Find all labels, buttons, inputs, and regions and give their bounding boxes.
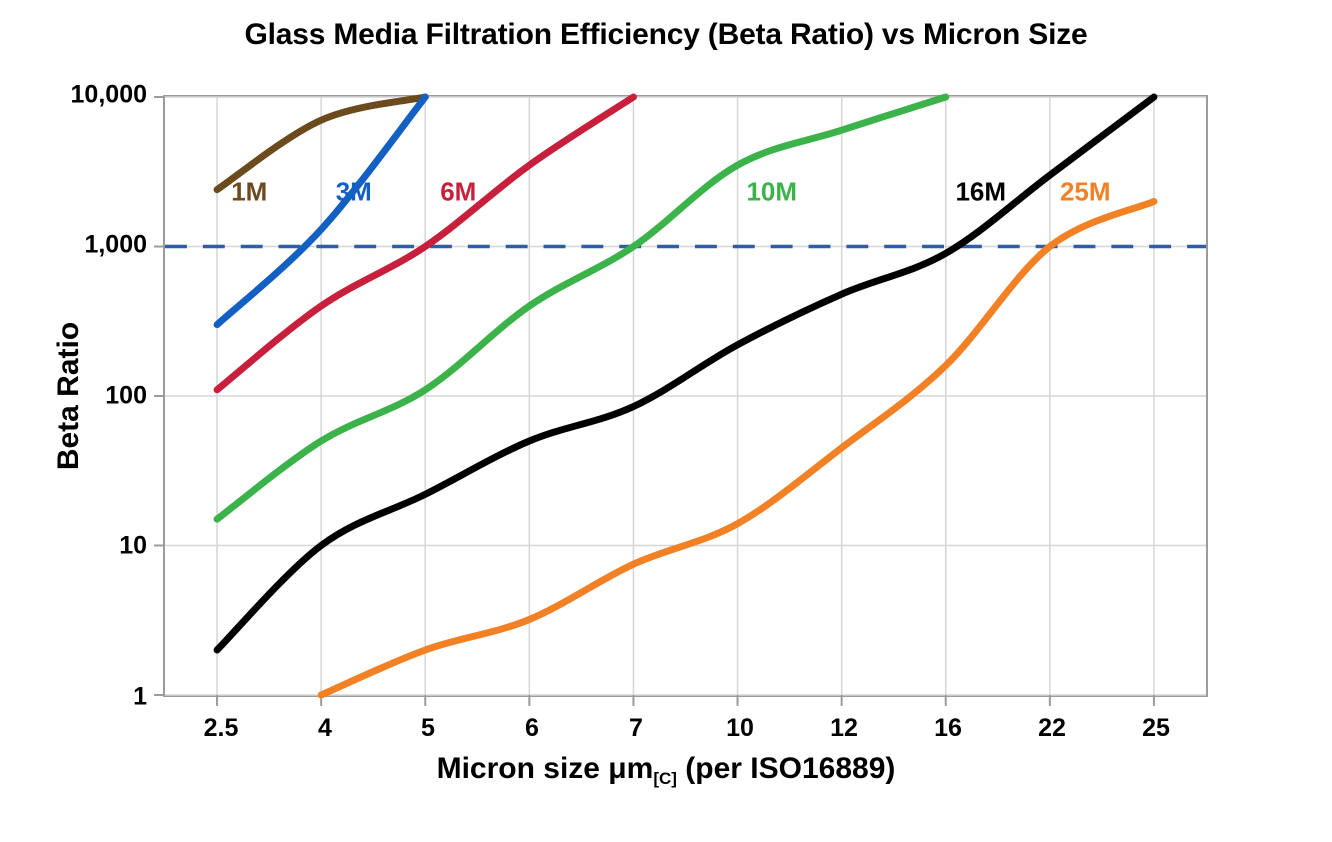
page-title: Glass Media Filtration Efficiency (Beta …	[0, 18, 1332, 52]
x-tick-label-10: 10	[726, 714, 754, 743]
x-tick-label-7: 7	[629, 714, 643, 743]
x-tick-label-16: 16	[934, 714, 962, 743]
series-label-25M: 25M	[1060, 177, 1111, 208]
y-tick-label-10000: 10,000	[17, 81, 147, 110]
x-tick-label-25: 25	[1142, 714, 1170, 743]
y-tick-label-10: 10	[17, 532, 147, 561]
y-axis-title-wrap: Beta Ratio	[78, 0, 79, 842]
series-label-6M: 6M	[440, 177, 476, 208]
x-tick-label-4: 4	[318, 714, 332, 743]
plot-canvas	[165, 97, 1206, 695]
x-axis-title-main: Micron size μm	[437, 752, 654, 785]
series-label-16M: 16M	[955, 177, 1006, 208]
series-label-3M: 3M	[336, 177, 372, 208]
x-axis-title-subscript: [C]	[653, 769, 677, 788]
x-tick-label-12: 12	[830, 714, 858, 743]
series-label-10M: 10M	[746, 177, 797, 208]
x-axis-title: Micron size μm[C] (per ISO16889)	[0, 752, 1332, 789]
x-axis-title-suffix: (per ISO16889)	[677, 752, 895, 785]
y-tick-label-1: 1	[17, 683, 147, 712]
plot-area	[163, 95, 1208, 697]
x-tick-label-5: 5	[421, 714, 435, 743]
y-tick-label-1000: 1,000	[17, 231, 147, 260]
x-tick-label-6: 6	[525, 714, 539, 743]
series-label-1M: 1M	[231, 177, 267, 208]
x-tick-label-2.5: 2.5	[204, 714, 239, 743]
chart-root: Glass Media Filtration Efficiency (Beta …	[0, 0, 1332, 842]
x-tick-label-22: 22	[1038, 714, 1066, 743]
y-tick-label-100: 100	[17, 382, 147, 411]
gridlines	[154, 97, 1206, 706]
